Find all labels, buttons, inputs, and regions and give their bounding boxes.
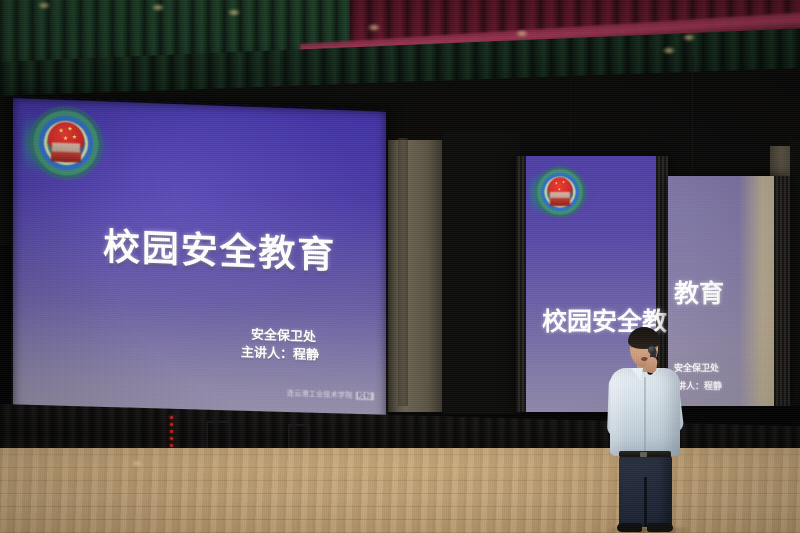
presenter-shirt-placket [644, 377, 646, 451]
equipment-stand-bar [288, 424, 309, 426]
indicator-light [170, 430, 173, 433]
slide-subtitle-presenter: 主讲人：程静 [241, 344, 319, 364]
hanging-cable [570, 72, 571, 160]
wall-panel-far-left-strip [398, 138, 408, 406]
slide-subtitle-org: 安全保卫处 [251, 327, 316, 347]
indicator-light [170, 423, 173, 426]
slide-title: 校园安全教育 [103, 216, 336, 279]
police-emblem-icon [29, 105, 103, 182]
stage-light [683, 34, 695, 41]
presenter [602, 327, 694, 533]
stage-light [152, 4, 164, 11]
wall-panel-center [386, 140, 442, 412]
presenter-leg-split [644, 477, 647, 527]
stage-light [228, 9, 240, 16]
presenter-shoe-left [617, 523, 642, 532]
presenter-belt-buckle [640, 452, 647, 457]
watermark-badge: 校标 [356, 392, 375, 401]
indicator-light [170, 444, 173, 447]
projection-screen: 校园安全教育 安全保卫处 主讲人：程静 连云港工业技术学院校标 [11, 96, 388, 432]
indicator-light [170, 416, 173, 419]
auditorium-scene-photo: 校园安全教育 安全保卫处 主讲人：程静 连云港工业技术学院校标 校园安全教 主 … [0, 0, 800, 533]
stage-light [38, 2, 50, 9]
indicator-light [170, 437, 173, 440]
hanging-cable [692, 58, 693, 178]
presentation-slide: 校园安全教育 安全保卫处 主讲人：程静 连云港工业技术学院校标 [11, 96, 388, 432]
stage-light [516, 30, 528, 37]
watermark-text: 连云港工业技术学院 [287, 389, 353, 399]
police-emblem-icon [534, 166, 586, 218]
stage-light [663, 47, 675, 54]
led-panel-right-edge [774, 176, 790, 406]
wall-panel-dark [442, 132, 520, 414]
floor-marker [133, 461, 141, 466]
led-panel-left-edge [516, 156, 526, 412]
stage-light [368, 24, 380, 31]
presenter-shoe-right [647, 523, 673, 532]
led-panel-right-title: 教育 [674, 274, 724, 310]
microphone-head-icon [648, 346, 656, 354]
equipment-stand-bar [206, 421, 230, 423]
wall-gap-right [790, 140, 800, 406]
